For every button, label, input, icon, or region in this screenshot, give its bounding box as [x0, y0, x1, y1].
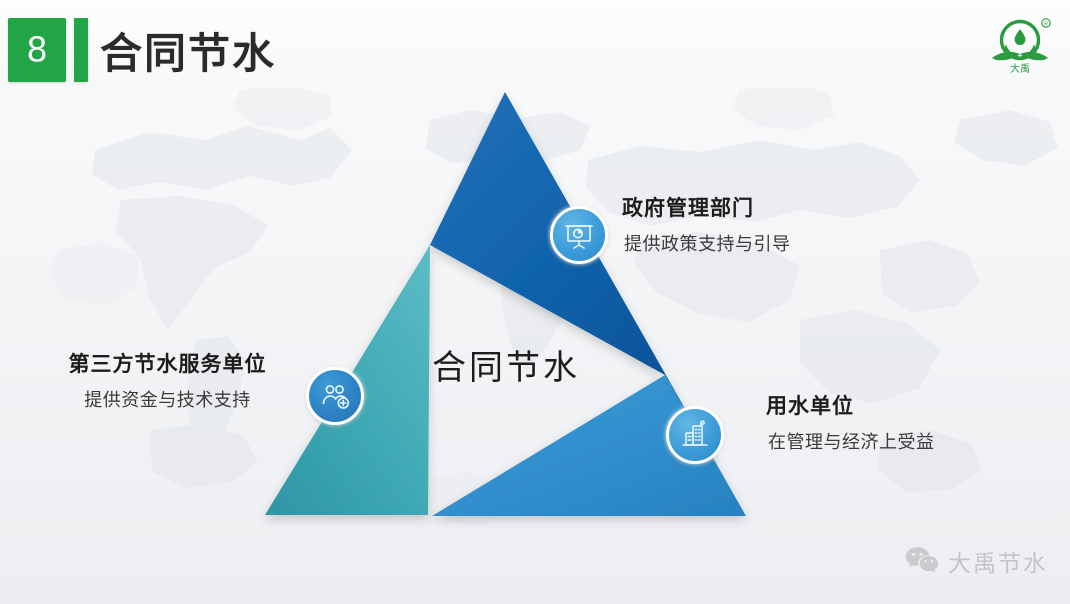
header-accent-bar: [74, 18, 88, 82]
svg-text:R: R: [1044, 22, 1048, 28]
slide-canvas: 8 合同节水 R 大禹: [0, 0, 1070, 604]
wechat-watermark: 大禹节水: [905, 544, 1048, 578]
callout-subtitle: 在管理与经济上受益: [768, 431, 935, 454]
triangle-diagram: [240, 70, 770, 540]
callout-title: 第三方节水服务单位: [60, 352, 275, 378]
callout-subtitle: 提供政策支持与引导: [624, 233, 791, 256]
diagram-center-label: 合同节水: [432, 340, 580, 389]
callout-subtitle: 提供资金与技术支持: [60, 389, 275, 412]
callout-government: 政府管理部门 提供政策支持与引导: [622, 196, 791, 256]
callout-third-party: 第三方节水服务单位 提供资金与技术支持: [60, 352, 275, 412]
callout-title: 用水单位: [766, 394, 935, 420]
callout-water-user: 用水单位 在管理与经济上受益: [766, 394, 935, 454]
dayu-water-leaf-logo: R 大禹: [984, 14, 1056, 76]
buildings-icon[interactable]: [666, 406, 724, 464]
watermark-text: 大禹节水: [948, 544, 1048, 578]
wechat-icon: [905, 546, 939, 576]
section-number-badge: 8: [8, 18, 66, 82]
svg-text:大禹: 大禹: [1010, 62, 1030, 75]
section-number: 8: [8, 31, 66, 67]
presentation-chart-icon[interactable]: [550, 206, 608, 264]
callout-title: 政府管理部门: [622, 196, 791, 222]
add-users-icon[interactable]: [306, 367, 364, 425]
